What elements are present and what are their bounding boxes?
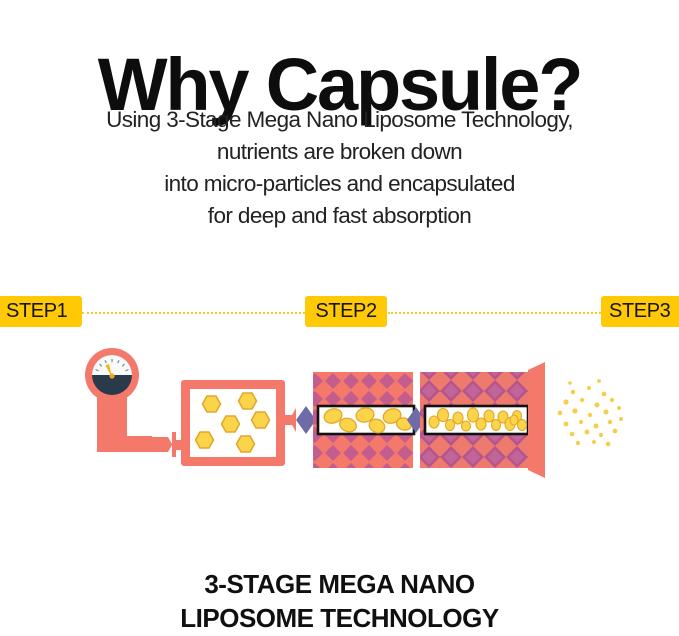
inlet-funnel: [152, 432, 176, 457]
nano-particle-spray: [558, 379, 623, 446]
outlet-nozzle: [528, 362, 545, 478]
subtitle-line-3: into micro-particles and encapsulated: [0, 168, 679, 200]
gauge-needle-hub: [109, 373, 114, 378]
macro-particle-chamber: [181, 380, 285, 466]
step-rail: STEP1 STEP2 STEP3: [0, 296, 679, 330]
footer-line-1: 3-STAGE MEGA NANO: [0, 567, 679, 601]
step-connector-1-2: [82, 312, 305, 314]
subtitle-line-4: for deep and fast absorption: [0, 200, 679, 232]
pressure-gauge-group: [85, 348, 152, 452]
chamber-outlet-funnel: [285, 408, 296, 432]
footer-caption: 3-STAGE MEGA NANO LIPOSOME TECHNOLOGY: [0, 567, 679, 635]
subtitle-line-1: Using 3-Stage Mega Nano Liposome Technol…: [0, 104, 679, 136]
step-badge-3[interactable]: STEP3: [601, 296, 679, 327]
footer-line-2: LIPOSOME TECHNOLOGY: [0, 601, 679, 635]
step-connector-2-3: [388, 312, 604, 314]
subtitle-block: Using 3-Stage Mega Nano Liposome Technol…: [0, 104, 679, 232]
nano-particle-tube: [420, 372, 528, 468]
process-illustration: [0, 336, 679, 506]
subtitle-line-2: nutrients are broken down: [0, 136, 679, 168]
step-badge-1[interactable]: STEP1: [0, 296, 82, 327]
step-badge-2[interactable]: STEP2: [305, 296, 387, 327]
micro-particle-tube: [313, 372, 414, 468]
